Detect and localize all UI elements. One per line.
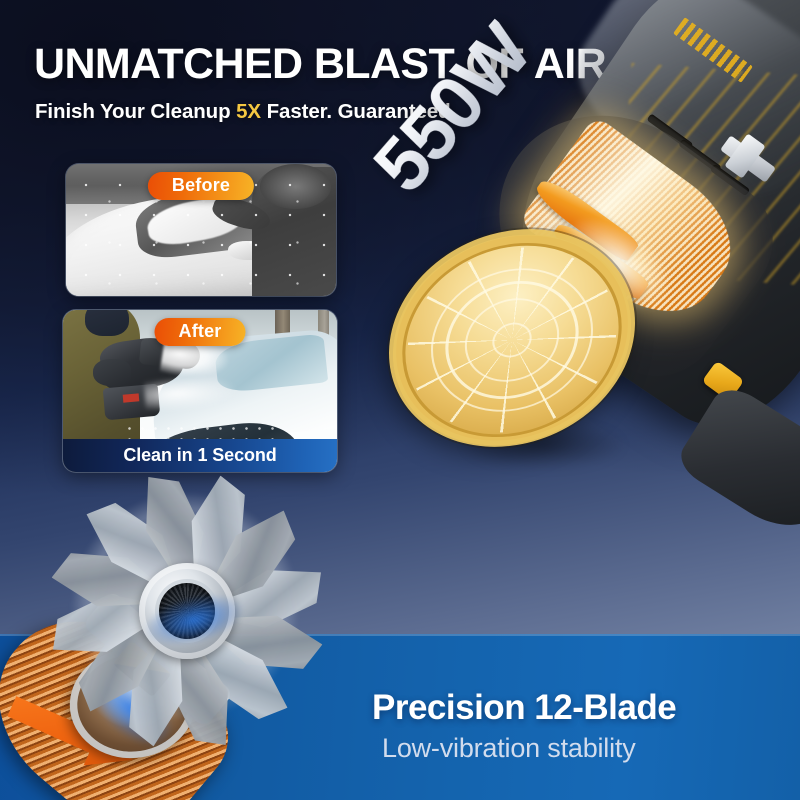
after-person-collar [85,310,129,336]
after-card: After Clean in 1 Second [63,310,337,472]
after-caption: Clean in 1 Second [63,439,337,472]
after-snow-spray [144,367,273,424]
blower-product-image [388,10,800,480]
product-poster: UNMATCHED BLAST OF AIR. Finish Your Clea… [0,0,800,800]
impeller-image [20,486,350,786]
before-badge: Before [148,172,254,200]
after-glove [93,359,131,387]
after-badge: After [154,318,245,346]
footer-title: Precision 12-Blade [372,688,676,728]
footer-subtitle: Low-vibration stability [382,733,636,764]
subheadline-accent: 5X [236,100,261,123]
before-card: Before [66,164,336,296]
subheadline-part-1: Finish Your Cleanup [35,100,236,123]
